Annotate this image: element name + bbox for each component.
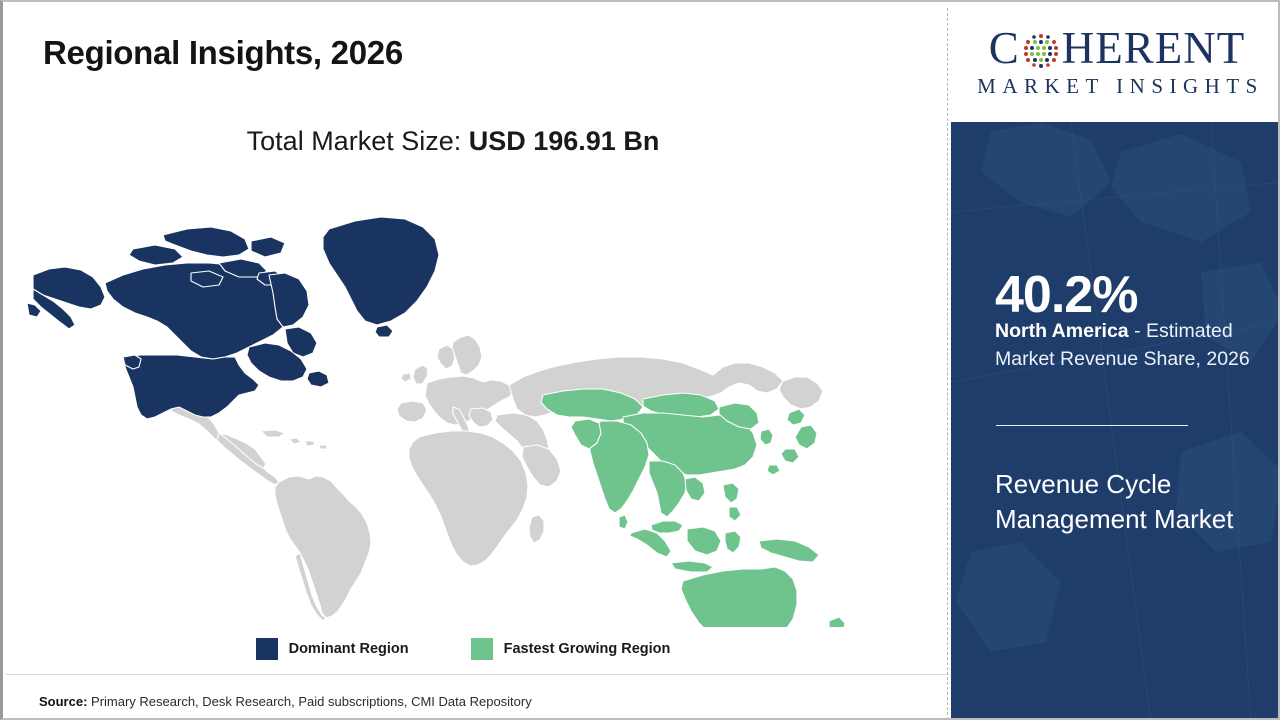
- source-text: Primary Research, Desk Research, Paid su…: [87, 694, 531, 709]
- logo-letter-c: C: [989, 26, 1020, 71]
- right-panel: C: [951, 2, 1280, 720]
- legend-swatch-dominant-icon: [256, 638, 278, 660]
- revenue-share-description: North America - Estimated Market Revenue…: [995, 318, 1265, 373]
- revenue-share-percent: 40.2%: [995, 269, 1137, 321]
- logo-letters-herent: HERENT: [1062, 26, 1245, 71]
- map-legend: Dominant Region Fastest Growing Region: [3, 638, 923, 660]
- world-map: [23, 177, 923, 627]
- total-market-size-label: Total Market Size:: [247, 126, 469, 156]
- revenue-share-region: North America: [995, 320, 1129, 342]
- logo-tagline: MARKET INSIGHTS: [970, 74, 1264, 99]
- globe-dots-svg: [1021, 31, 1061, 71]
- world-map-svg: [23, 177, 923, 627]
- page-title: Regional Insights, 2026: [43, 34, 403, 72]
- legend-swatch-fastest-growing-icon: [471, 638, 493, 660]
- stat-panel-divider: [996, 425, 1188, 426]
- legend-item-dominant: Dominant Region: [256, 638, 409, 660]
- brand-logo: C: [951, 2, 1280, 122]
- market-name: Revenue Cycle Management Market: [995, 467, 1245, 537]
- total-market-size: Total Market Size: USD 196.91 Bn: [3, 126, 903, 157]
- globe-dots-icon: [1021, 31, 1061, 71]
- total-market-size-value: USD 196.91 Bn: [469, 126, 660, 156]
- map-region-asia-pacific: [541, 389, 851, 627]
- stat-panel: 40.2% North America - Estimated Market R…: [951, 122, 1280, 720]
- infographic-page: Regional Insights, 2026 Total Market Siz…: [0, 0, 1280, 720]
- legend-label-dominant: Dominant Region: [289, 641, 409, 657]
- source-label: Source:: [39, 694, 87, 709]
- logo-wordmark: C: [989, 26, 1246, 71]
- vertical-dashed-divider: [947, 8, 948, 720]
- source-divider: [6, 674, 949, 675]
- map-region-north-america: [27, 217, 439, 419]
- left-content-area: Regional Insights, 2026 Total Market Siz…: [3, 2, 949, 720]
- legend-label-fastest-growing: Fastest Growing Region: [504, 641, 671, 657]
- stat-panel-content: 40.2% North America - Estimated Market R…: [951, 122, 1280, 720]
- source-note: Source: Primary Research, Desk Research,…: [39, 694, 532, 709]
- legend-item-fastest-growing: Fastest Growing Region: [471, 638, 671, 660]
